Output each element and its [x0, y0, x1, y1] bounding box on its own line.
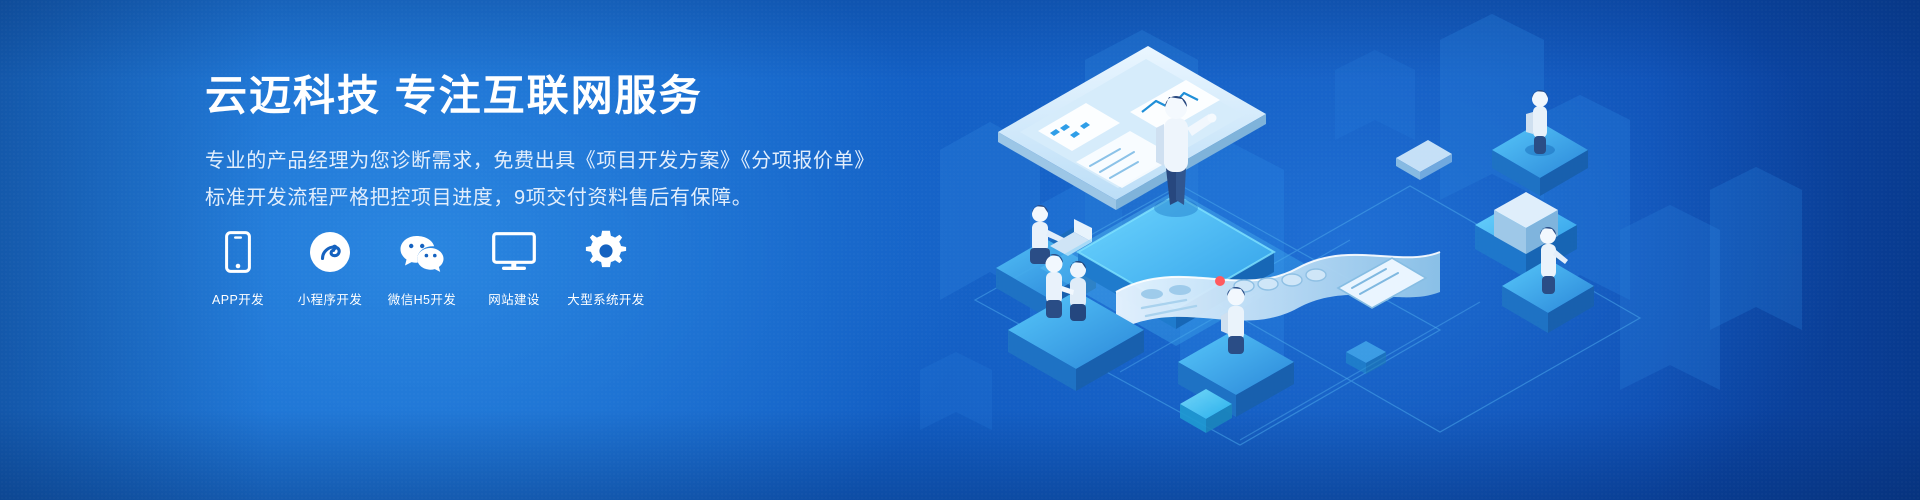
monitor-icon — [492, 228, 536, 276]
mini-program-icon — [309, 228, 351, 276]
service-label: 微信H5开发 — [388, 289, 456, 308]
service-label: 大型系统开发 — [567, 289, 644, 308]
smartphone-icon — [225, 228, 251, 276]
service-item-website[interactable]: 网站建设 — [478, 228, 550, 308]
service-label: 小程序开发 — [298, 289, 363, 308]
hero-banner: 云迈科技 专注互联网服务 专业的产品经理为您诊断需求，免费出具《项目开发方案》《… — [0, 0, 1920, 500]
service-item-app[interactable]: APP开发 — [202, 228, 274, 308]
hero-copy: 云迈科技 专注互联网服务 专业的产品经理为您诊断需求，免费出具《项目开发方案》《… — [205, 72, 905, 216]
gear-icon — [584, 228, 628, 276]
isometric-illustration — [880, 0, 1920, 500]
wechat-icon — [399, 228, 445, 276]
service-list: APP开发 小程序开发 — [202, 228, 642, 308]
service-item-large-system[interactable]: 大型系统开发 — [570, 228, 642, 308]
service-label: 网站建设 — [488, 289, 540, 308]
page-title: 云迈科技 专注互联网服务 — [205, 72, 905, 120]
service-label: APP开发 — [212, 289, 264, 308]
hero-subtitle-line-1: 专业的产品经理为您诊断需求，免费出具《项目开发方案》《分项报价单》 — [205, 144, 905, 179]
service-item-mini-program[interactable]: 小程序开发 — [294, 228, 366, 308]
service-item-wechat-h5[interactable]: 微信H5开发 — [386, 228, 458, 308]
hero-subtitle-line-2: 标准开发流程严格把控项目进度，9项交付资料售后有保障。 — [205, 181, 905, 216]
